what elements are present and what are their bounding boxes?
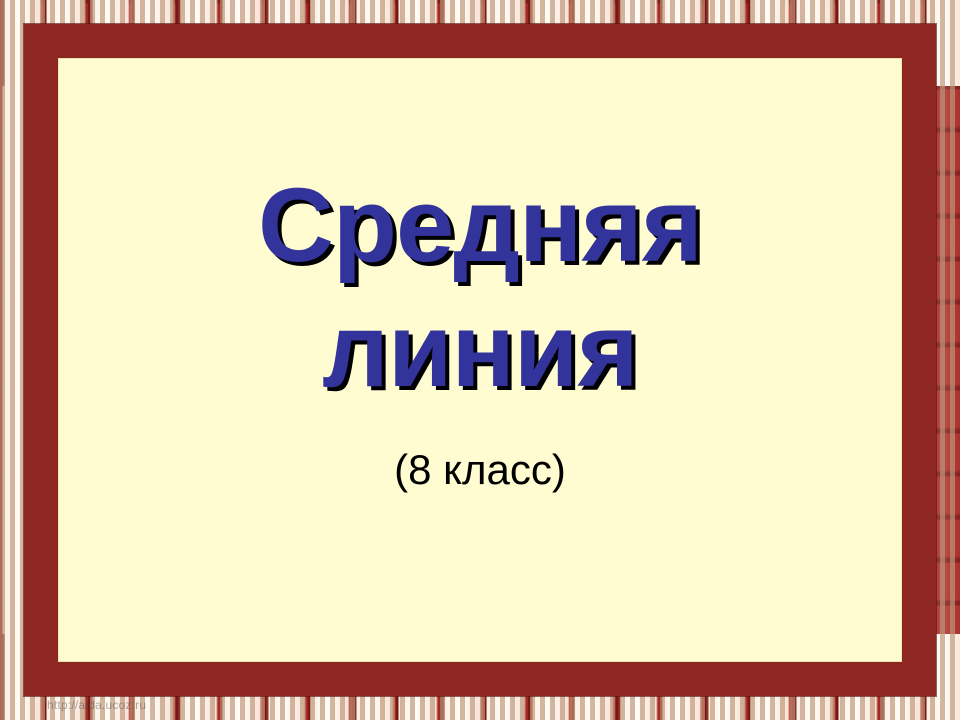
slide-subtitle: (8 класс) xyxy=(394,446,566,494)
slide-title-line-2: линия xyxy=(322,297,638,404)
slide-content: Средняя линия (8 класс) xyxy=(34,34,926,686)
slide-canvas: Средняя линия (8 класс) http://aida.ucoz… xyxy=(0,0,960,720)
slide-title-line-1: Средняя xyxy=(258,172,702,279)
